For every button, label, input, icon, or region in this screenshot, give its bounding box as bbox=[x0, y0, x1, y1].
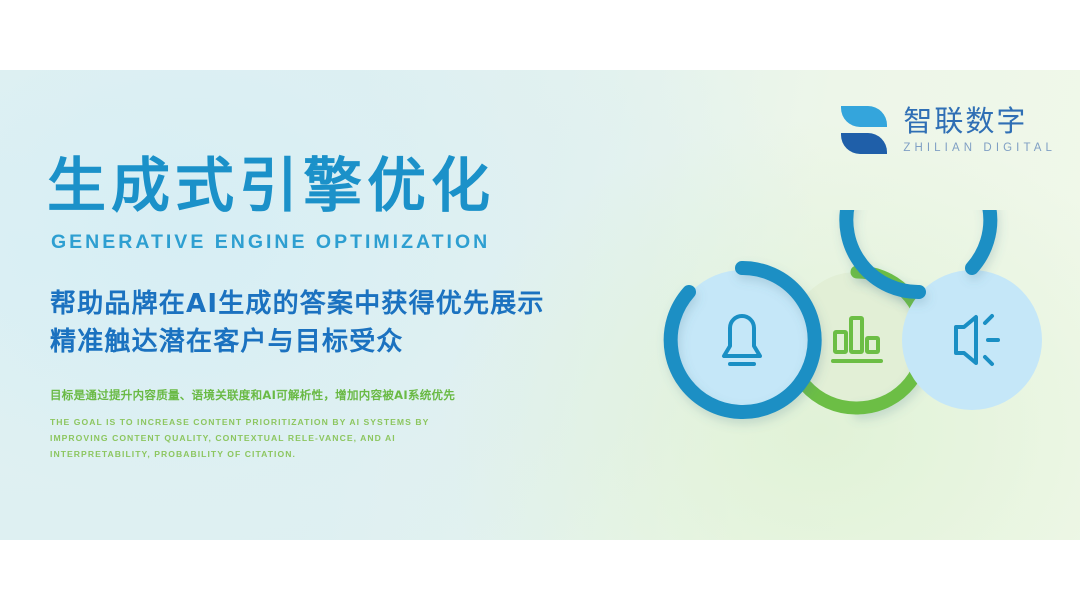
hero-graphic bbox=[642, 210, 1072, 470]
subtitle-line-2: 精准触达潜在客户与目标受众 bbox=[50, 324, 607, 362]
page-title-cn: 生成式引擎优化 bbox=[47, 155, 607, 217]
zhilian-leaf-mark-icon bbox=[838, 102, 890, 160]
logo-text-cn: 智联数字 bbox=[903, 107, 1056, 136]
graphic-circle-left bbox=[671, 268, 815, 412]
brand-logo[interactable]: 智联数字 ZHILIAN DIGITAL bbox=[838, 102, 1056, 160]
hero-copy: 生成式引擎优化 GENERATIVE ENGINE OPTIMIZATION 帮… bbox=[47, 155, 607, 463]
logo-text-en: ZHILIAN DIGITAL bbox=[903, 143, 1056, 155]
hero-subtitle: 帮助品牌在AI生成的答案中获得优先展示 精准触达潜在客户与目标受众 bbox=[50, 286, 607, 361]
hero-note-cn: 目标是通过提升内容质量、语境关联度和AI可解析性，增加内容被AI系统优先 bbox=[50, 387, 607, 403]
subtitle-line-1: 帮助品牌在AI生成的答案中获得优先展示 bbox=[50, 286, 607, 324]
hero-note-en: THE GOAL IS TO INCREASE CONTENT PRIORITI… bbox=[50, 415, 487, 463]
three-circle-graphic bbox=[642, 210, 1072, 470]
logo-wordmark: 智联数字 ZHILIAN DIGITAL bbox=[903, 107, 1056, 155]
page-title-en: GENERATIVE ENGINE OPTIMIZATION bbox=[51, 231, 607, 254]
hero-banner: 智联数字 ZHILIAN DIGITAL 生成式引擎优化 GENERATIVE … bbox=[0, 70, 1080, 540]
